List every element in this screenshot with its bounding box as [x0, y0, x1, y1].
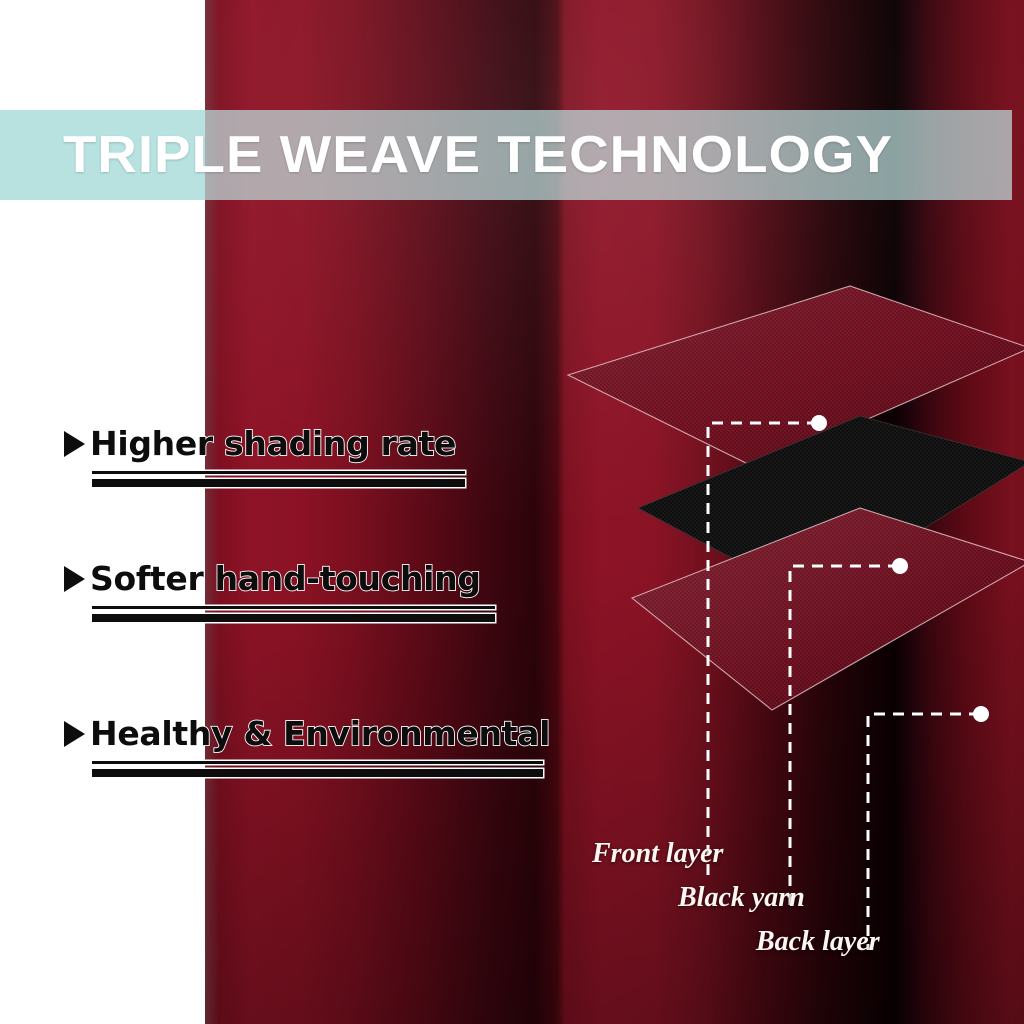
rule-thick	[92, 479, 465, 487]
triangle-right-icon	[64, 431, 85, 457]
rule-thin	[92, 606, 495, 609]
feature-row: Healthy & Environmental	[64, 714, 550, 753]
fabric-layer-diagram	[560, 280, 1024, 860]
feature-label: Higher shading rate	[90, 424, 456, 463]
layer-front-sheet	[568, 286, 1024, 468]
feature-row: Higher shading rate	[64, 424, 465, 463]
feature-underline	[92, 606, 495, 622]
layer-back-sheet	[632, 508, 1024, 710]
feature-label: Softer hand-touching	[90, 559, 481, 598]
feature-item-shading: Higher shading rate	[64, 424, 465, 487]
feature-underline	[92, 471, 465, 487]
callout-black-yarn: Black yarn	[678, 882, 805, 914]
rule-thin	[92, 471, 465, 474]
triangle-right-icon	[64, 566, 85, 592]
triangle-right-icon	[64, 721, 85, 747]
feature-item-health: Healthy & Environmental	[64, 714, 550, 777]
rule-thick	[92, 614, 495, 622]
feature-label: Healthy & Environmental	[90, 714, 550, 753]
feature-underline	[92, 761, 543, 777]
callout-front-layer: Front layer	[592, 838, 723, 870]
rule-thick	[92, 769, 543, 777]
rule-thin	[92, 761, 543, 764]
feature-item-softness: Softer hand-touching	[64, 559, 495, 622]
callout-back-layer: Back layer	[756, 926, 880, 958]
product-infographic: TRIPLE WEAVE TECHNOLOGY Higher shading r…	[0, 0, 1024, 1024]
feature-row: Softer hand-touching	[64, 559, 495, 598]
